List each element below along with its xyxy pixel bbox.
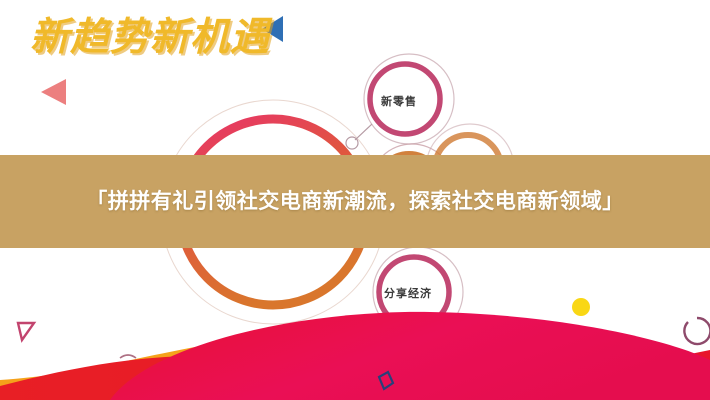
poster-canvas: 万亿网销新经济 新零售 分享经济 新趋势新机遇 「拼拼有礼引领社交电商新潮流，探…: [0, 0, 710, 400]
caption-text: 「拼拼有礼引领社交电商新潮流，探索社交电商新领域」: [25, 185, 685, 218]
caption-band: 「拼拼有礼引领社交电商新潮流，探索社交电商新领域」: [0, 155, 710, 248]
poster-headline: 新趋势新机遇: [30, 18, 270, 57]
bubble-label-sharing-economy: 分享经济: [384, 285, 432, 301]
yellow-dot-icon: [572, 298, 590, 316]
bubble-label-new-retail: 新零售: [381, 93, 417, 109]
